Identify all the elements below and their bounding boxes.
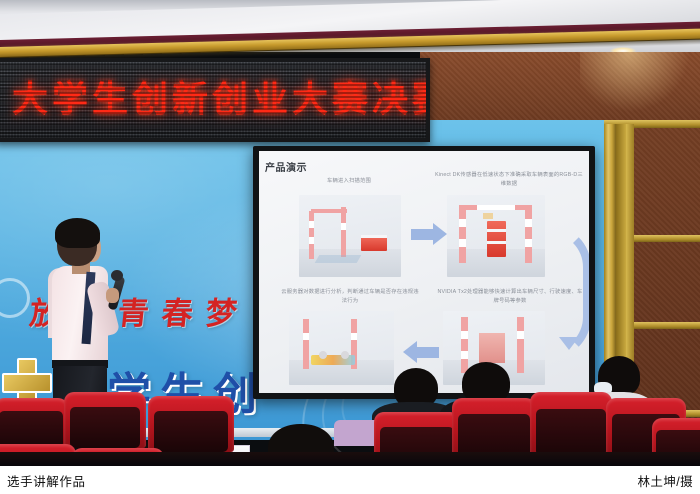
panel1-scan-beam <box>315 255 362 263</box>
slide-canvas: 产品演示 车辆进入扫描范围 Kinect DK传感器在低速状态下准确采取车辆表面… <box>259 151 589 393</box>
panel4-stripe-b <box>461 351 468 359</box>
panel1-beam <box>311 209 347 213</box>
panel1-vehicle-roof <box>361 235 387 238</box>
panel2-post-left <box>459 205 466 263</box>
slide-caption-1: 车辆进入扫描范围 <box>289 177 409 186</box>
panel2-vehicle <box>487 221 506 257</box>
slide-image-panel-1 <box>299 195 401 277</box>
panel3-marker-1 <box>319 351 327 359</box>
seat-row-c-3 <box>530 392 612 456</box>
slide-image-panel-3 <box>289 311 394 385</box>
slide-title: 产品演示 <box>265 159 307 174</box>
panel4-stripe-c <box>517 331 524 339</box>
panel4-vehicle <box>479 333 505 363</box>
panel2-vehicle-band-2 <box>487 241 506 244</box>
seat-cushion <box>70 407 141 448</box>
microphone-head-icon <box>111 270 123 281</box>
panel1-stripe-a <box>309 221 314 228</box>
caption-text-left: 选手讲解作品 <box>7 471 86 490</box>
panel4-post-right <box>517 317 524 373</box>
panel2-stripe-b <box>459 239 466 247</box>
panel3-marker-2 <box>341 351 349 359</box>
panel1-ground <box>299 249 401 277</box>
slide-caption-3: 云服务器对数据进行分析，判断通过车辆是否存在违规违法行为 <box>281 288 419 305</box>
caption-bar: 选手讲解作品 林土坤/摄 <box>0 466 700 494</box>
wall-rail-2 <box>632 322 700 329</box>
presenter-hand <box>106 288 119 303</box>
seat-row-a-1 <box>0 398 68 448</box>
seat-cushion <box>154 411 228 452</box>
slide-arrow-curved-head <box>559 337 579 350</box>
panel1-post-mid <box>341 207 346 257</box>
wall-rail-1 <box>632 235 700 242</box>
led-screen: 大学生创新创业大赛决赛 <box>0 62 426 138</box>
slide-caption-2: Kinect DK传感器在低速状态下准确采取车辆表面的RGB-D三维数据 <box>435 171 583 188</box>
led-banner-text: 大学生创新创业大赛决赛 <box>12 70 426 122</box>
seat-row-c-2 <box>452 398 536 460</box>
projection-screen: 产品演示 车辆进入扫描范围 Kinect DK传感器在低速状态下准确采取车辆表面… <box>253 146 595 399</box>
panel2-stripe-d <box>525 239 532 247</box>
panel3-stripe-a <box>303 333 309 340</box>
backdrop-logo-ring-icon <box>0 278 30 318</box>
wall-light-glow <box>580 52 690 112</box>
panel2-post-right <box>525 205 532 263</box>
panel2-stripe-c <box>525 219 532 227</box>
panel4-post-left <box>461 317 468 373</box>
panel1-stripe-c <box>341 223 346 230</box>
panel3-post-left <box>303 319 309 369</box>
seat-cushion <box>536 409 607 456</box>
seat-row-a-2 <box>64 392 146 448</box>
panel1-stripe-b <box>309 237 314 244</box>
panel2-stripe-a <box>459 219 466 227</box>
presenter-hair <box>55 218 100 248</box>
panel1-vehicle <box>361 237 387 251</box>
slide-image-panel-2 <box>447 195 545 277</box>
seat-cushion <box>0 411 63 448</box>
slide-arrow-left-head <box>403 341 417 363</box>
led-banner-display: 大学生创新创业大赛决赛 <box>0 58 430 142</box>
panel2-sensor-icon <box>483 213 493 219</box>
photo-frame: 放飞青春梦 大学生创 业生就业指导 校团委、学生处 电子 大学生创新创业大赛决赛… <box>0 0 700 494</box>
foreground-shadow <box>0 452 700 466</box>
panel1-post-left <box>309 211 314 259</box>
panel2-beam-stripe <box>477 205 515 210</box>
slide-arrow-left-body <box>417 347 439 358</box>
panel3-stripe-b <box>351 333 357 340</box>
panel4-stripe-a <box>461 331 468 339</box>
caption-credit-right: 林土坤/摄 <box>638 471 693 490</box>
slide-arrow-right-head <box>433 223 447 245</box>
panel2-vehicle-band-1 <box>487 229 506 232</box>
slide-arrow-right-body <box>411 229 433 240</box>
seat-row-a-3 <box>148 396 234 452</box>
